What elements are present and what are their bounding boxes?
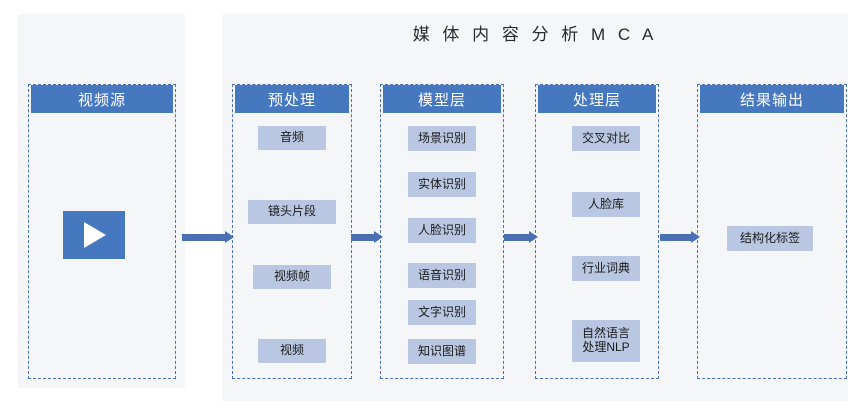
arrow-shaft xyxy=(504,234,529,241)
column-header-preprocessing[interactable]: 预处理 xyxy=(235,85,349,113)
list-item[interactable]: 人脸识别 xyxy=(408,218,476,243)
list-item[interactable]: 实体识别 xyxy=(408,172,476,197)
arrow-shaft xyxy=(351,234,374,241)
list-item[interactable]: 视频帧 xyxy=(253,265,331,289)
column-header-model-layer[interactable]: 模型层 xyxy=(383,85,501,113)
list-item[interactable]: 音频 xyxy=(258,126,326,150)
arrow-source-to-preprocessing xyxy=(182,231,234,243)
list-item[interactable]: 人脸库 xyxy=(572,192,640,217)
list-item[interactable]: 知识图谱 xyxy=(408,339,476,364)
page-title: 媒 体 内 容 分 析 M C A xyxy=(222,20,848,45)
list-item[interactable]: 文字识别 xyxy=(408,300,476,325)
list-item[interactable]: 行业词典 xyxy=(572,256,640,281)
play-button-icon[interactable] xyxy=(63,211,125,259)
list-item[interactable]: 视频 xyxy=(258,339,326,363)
column-header-video-source[interactable]: 视频源 xyxy=(31,85,173,113)
arrow-preprocessing-to-model xyxy=(351,231,383,243)
arrow-head xyxy=(529,231,538,243)
arrow-shaft xyxy=(660,234,691,241)
arrow-shaft xyxy=(182,234,225,241)
list-item[interactable]: 自然语言 处理NLP xyxy=(572,320,640,362)
arrow-head xyxy=(691,231,700,243)
diagram-canvas: 媒 体 内 容 分 析 M C A 视频源 预处理 音频 镜头片段 视频帧 视频… xyxy=(0,0,859,411)
arrow-processing-to-output xyxy=(660,231,700,243)
column-header-result-output[interactable]: 结果输出 xyxy=(700,85,844,113)
list-item[interactable]: 场景识别 xyxy=(408,126,476,151)
play-triangle-icon xyxy=(84,222,106,248)
list-item[interactable]: 语音识别 xyxy=(408,263,476,288)
list-item[interactable]: 交叉对比 xyxy=(572,126,640,151)
arrow-head xyxy=(374,231,383,243)
list-item[interactable]: 镜头片段 xyxy=(248,200,336,224)
column-header-processing-layer[interactable]: 处理层 xyxy=(538,85,656,113)
arrow-head xyxy=(225,231,234,243)
arrow-model-to-processing xyxy=(504,231,538,243)
list-item[interactable]: 结构化标签 xyxy=(727,226,813,251)
